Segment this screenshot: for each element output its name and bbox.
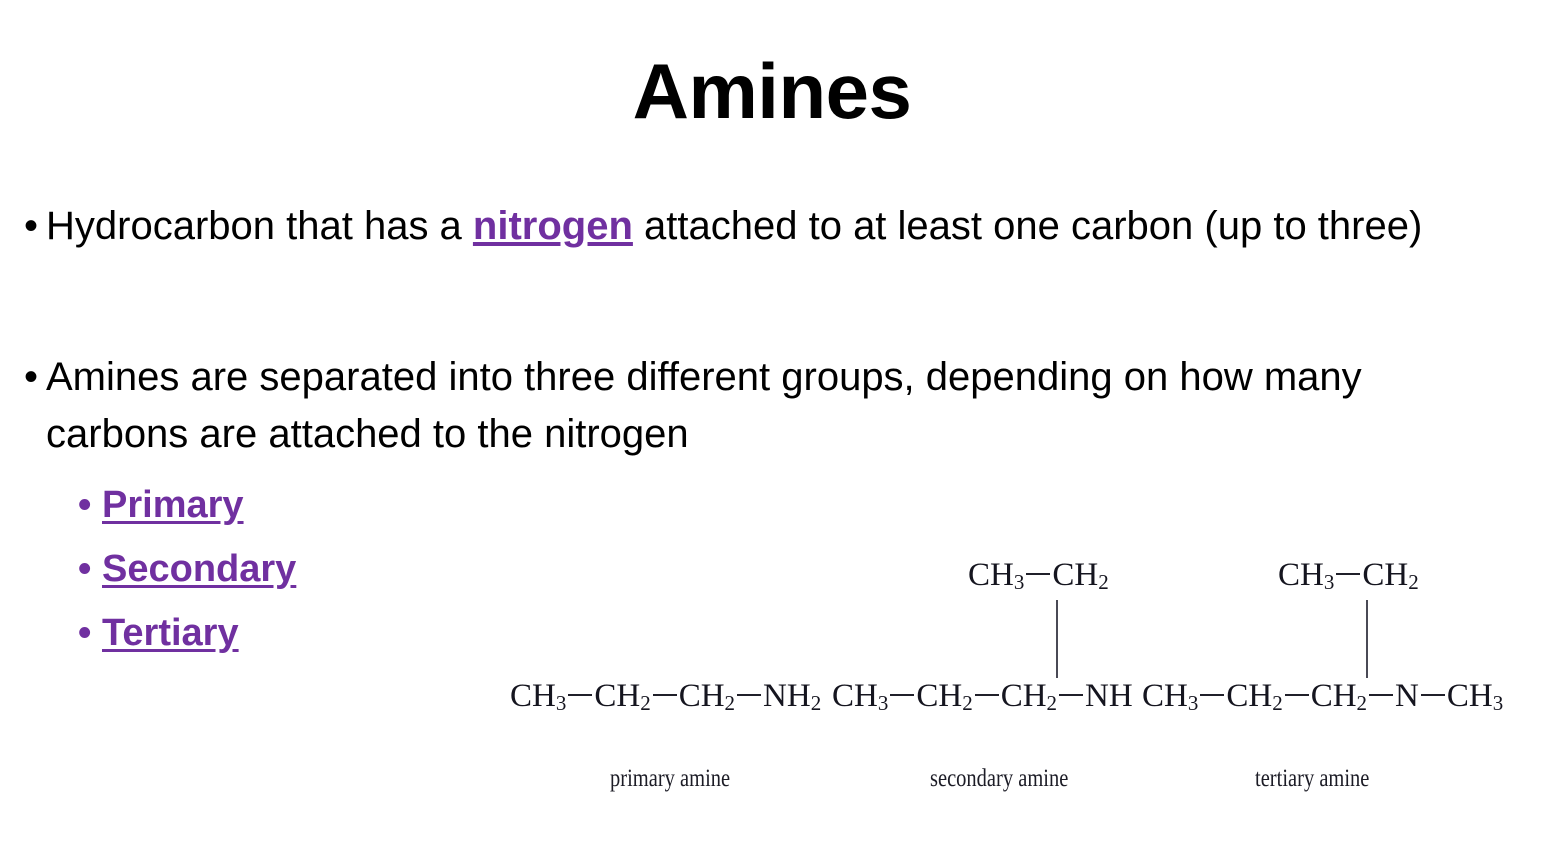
bond-icon <box>1285 694 1309 696</box>
subscript: 2 <box>962 691 973 715</box>
atom-ch2: CH2 <box>1311 678 1367 714</box>
secondary-main-chain: CH3CH2CH2NH <box>832 678 1133 721</box>
subscript: 2 <box>1357 691 1368 715</box>
subscript: 3 <box>1324 570 1335 594</box>
bond-icon <box>1421 694 1445 696</box>
sub-bullet-label[interactable]: Primary <box>102 484 244 526</box>
subscript: 2 <box>1408 570 1419 594</box>
atom-ch3: CH3 <box>1447 678 1503 714</box>
bond-icon <box>1059 694 1083 696</box>
bullet-dot-icon: • <box>24 349 38 406</box>
atom-ch3: CH3 <box>1142 678 1198 714</box>
bond-icon <box>890 694 914 696</box>
bond-icon <box>653 694 677 696</box>
structure-caption: primary amine <box>610 765 730 793</box>
subscript: 3 <box>1188 691 1199 715</box>
bullet-dot-icon: • <box>78 601 91 665</box>
bullet-item-groups: •Amines are separated into three differe… <box>20 349 1500 463</box>
vertical-bond-icon <box>1366 600 1368 678</box>
bullet-dot-icon: • <box>78 473 91 537</box>
atom-ch3: CH3 <box>832 678 888 714</box>
structure-tertiary-amine: CH3CH2 CH3CH2CH2NCH3 tertiary amine <box>1130 530 1490 820</box>
subscript: 3 <box>878 691 889 715</box>
bullet-dot-icon: • <box>78 537 91 601</box>
atom-ch3: CH3 <box>510 678 566 714</box>
sub-bullet-item-primary[interactable]: •Primary <box>78 473 1500 537</box>
tertiary-main-chain: CH3CH2CH2NCH3 <box>1142 678 1503 721</box>
bond-icon <box>1336 573 1360 575</box>
bullet-item-hydrocarbon: •Hydrocarbon that has a nitrogen attache… <box>20 198 1500 255</box>
subscript: 2 <box>1098 570 1109 594</box>
bond-icon <box>737 694 761 696</box>
subscript: 2 <box>725 691 736 715</box>
structure-primary-amine: CH3CH2CH2NH2 primary amine <box>488 530 798 820</box>
atom-ch2: CH2 <box>1362 557 1418 593</box>
subscript: 2 <box>1272 691 1283 715</box>
structure-caption: secondary amine <box>930 765 1068 793</box>
bullet-text-after: attached to at least one carbon (up to t… <box>633 204 1422 248</box>
bond-icon <box>1200 694 1224 696</box>
page-title: Amines <box>0 48 1544 134</box>
structure-secondary-amine: CH3CH2 CH3CH2CH2NH secondary amine <box>820 530 1130 820</box>
atom-ch2: CH2 <box>1001 678 1057 714</box>
bond-icon <box>1026 573 1050 575</box>
atom-ch3: CH3 <box>1278 557 1334 593</box>
primary-main-chain: CH3CH2CH2NH2 <box>510 678 821 721</box>
bullet-text: Amines are separated into three differen… <box>46 355 1362 456</box>
secondary-branch-chain: CH3CH2 <box>968 557 1109 600</box>
sub-bullet-label[interactable]: Secondary <box>102 548 296 590</box>
sub-bullet-label[interactable]: Tertiary <box>102 612 239 654</box>
atom-ch2: CH2 <box>594 678 650 714</box>
atom-ch2: CH2 <box>1226 678 1282 714</box>
atom-ch3: CH3 <box>968 557 1024 593</box>
structure-caption: tertiary amine <box>1255 765 1369 793</box>
subscript: 2 <box>1047 691 1058 715</box>
subscript: 2 <box>640 691 651 715</box>
subscript: 3 <box>1014 570 1025 594</box>
bond-icon <box>568 694 592 696</box>
atom-ch2: CH2 <box>679 678 735 714</box>
atom-ch2: CH2 <box>916 678 972 714</box>
paragraph-spacer <box>20 255 1500 349</box>
tertiary-branch-chain: CH3CH2 <box>1278 557 1419 600</box>
bond-icon <box>975 694 999 696</box>
amine-structures-figure: CH3CH2CH2NH2 primary amine CH3CH2 CH3CH2… <box>470 530 1510 820</box>
subscript: 3 <box>1493 691 1504 715</box>
link-nitrogen[interactable]: nitrogen <box>473 204 633 248</box>
bond-icon <box>1369 694 1393 696</box>
vertical-bond-icon <box>1056 600 1058 678</box>
atom-nh: NH <box>1085 678 1133 714</box>
atom-nh2: NH2 <box>763 678 821 714</box>
subscript: 3 <box>556 691 567 715</box>
bullet-text-before: Hydrocarbon that has a <box>46 204 473 248</box>
atom-n: N <box>1395 678 1419 714</box>
atom-ch2: CH2 <box>1052 557 1108 593</box>
bullet-dot-icon: • <box>24 198 38 255</box>
